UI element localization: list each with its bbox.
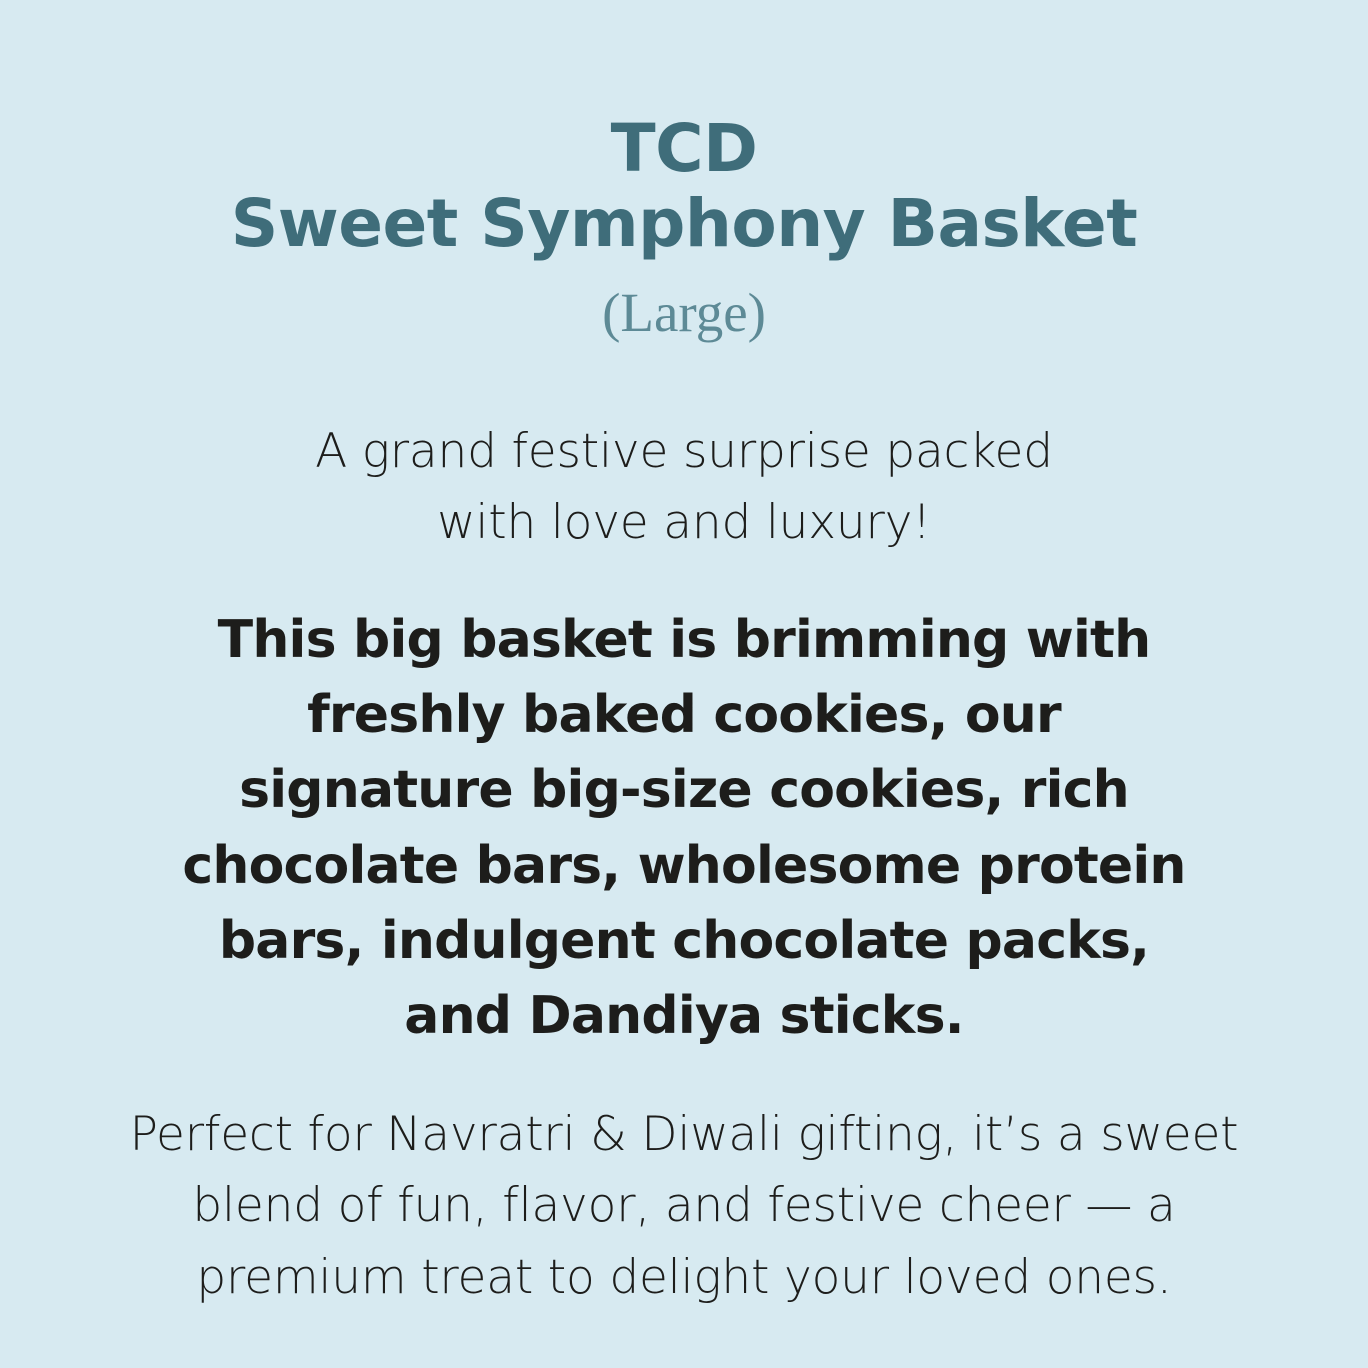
intro-paragraph: A grand festive surprise packed with lov…: [274, 416, 1094, 559]
body-block: A grand festive surprise packed with lov…: [72, 416, 1296, 1314]
title-line-brand: TCD: [72, 112, 1296, 187]
page-title: TCD Sweet Symphony Basket: [72, 112, 1296, 261]
size-label: (Large): [72, 283, 1296, 344]
title-block: TCD Sweet Symphony Basket (Large): [72, 112, 1296, 344]
product-description-card: TCD Sweet Symphony Basket (Large) A gran…: [0, 0, 1368, 1368]
outro-paragraph: Perfect for Navratri & Diwali gifting, i…: [122, 1099, 1247, 1313]
highlight-paragraph: This big basket is brimming with freshly…: [167, 603, 1202, 1055]
title-line-product: Sweet Symphony Basket: [72, 187, 1296, 262]
